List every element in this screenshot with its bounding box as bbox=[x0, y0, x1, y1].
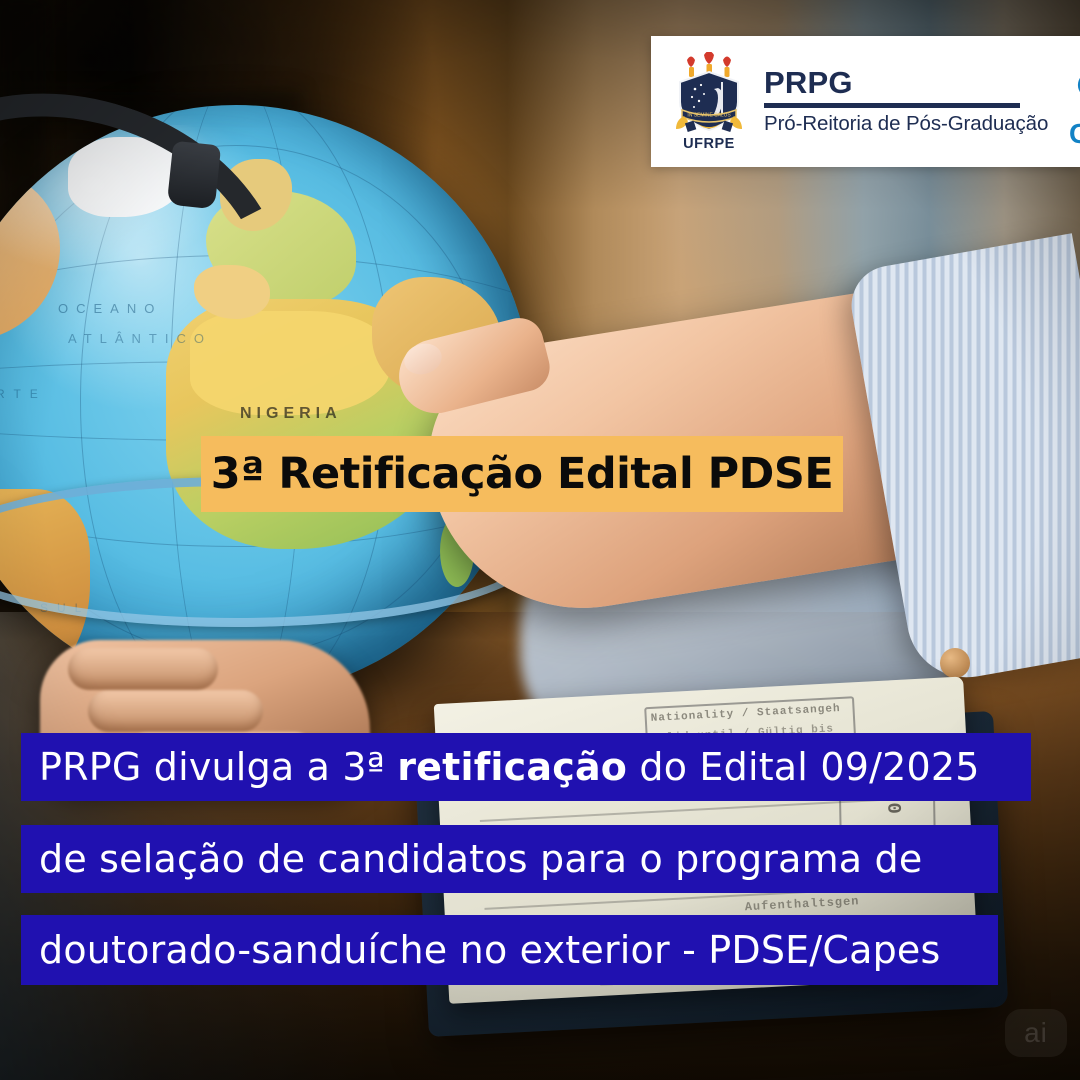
body-text-bar-1: PRPG divulga a 3ª retificação do Edital … bbox=[21, 733, 1031, 801]
finger bbox=[88, 690, 263, 732]
capes-wordmark: CAPES bbox=[1066, 118, 1080, 150]
body-line-3: doutorado-sanduíche no exterior - PDSE/C… bbox=[39, 928, 941, 972]
headline-text: 3ª Retificação Edital PDSE bbox=[211, 449, 833, 499]
body-line-1-strong: retificação bbox=[397, 745, 627, 789]
svg-text:IN SEMINE SALUS: IN SEMINE SALUS bbox=[687, 112, 731, 118]
globe-top-knob bbox=[167, 141, 221, 210]
prpg-subtitle: Pró-Reitoria de Pós-Graduação bbox=[764, 112, 1048, 136]
country-label: NIGERIA bbox=[240, 405, 342, 423]
body-line-2: de selação de candidatos para o programa… bbox=[39, 837, 922, 881]
ai-watermark-badge: ai bbox=[1005, 1009, 1067, 1057]
prpg-divider bbox=[764, 103, 1020, 108]
institutional-logo-bar: IN SEMINE SALUS UFRPE PRPG Pró-Reitoria … bbox=[651, 36, 1080, 167]
prpg-title: PRPG bbox=[764, 67, 1048, 98]
visa-stamp-label: Aufenthaltsgen bbox=[744, 894, 859, 914]
finger bbox=[68, 648, 218, 690]
shirt-cuff-button bbox=[940, 648, 970, 678]
body-text-bar-3: doutorado-sanduíche no exterior - PDSE/C… bbox=[21, 915, 998, 985]
prpg-wordmark: PRPG Pró-Reitoria de Pós-Graduação bbox=[764, 67, 1048, 136]
body-line-1: PRPG divulga a 3ª retificação do Edital … bbox=[39, 745, 980, 789]
body-text-bar-2: de selação de candidatos para o programa… bbox=[21, 825, 998, 893]
ufrpe-acronym: UFRPE bbox=[668, 136, 750, 152]
body-line-1-pre: PRPG divulga a 3ª bbox=[39, 745, 397, 789]
capes-logo: CAPES bbox=[1066, 53, 1080, 150]
ufrpe-logo: IN SEMINE SALUS UFRPE bbox=[668, 52, 750, 152]
headline-banner: 3ª Retificação Edital PDSE bbox=[201, 436, 843, 512]
capes-orbit-icon bbox=[1066, 53, 1080, 115]
body-line-1-post: do Edital 09/2025 bbox=[627, 745, 980, 789]
ufrpe-shield-crest-icon: IN SEMINE SALUS bbox=[668, 52, 750, 136]
